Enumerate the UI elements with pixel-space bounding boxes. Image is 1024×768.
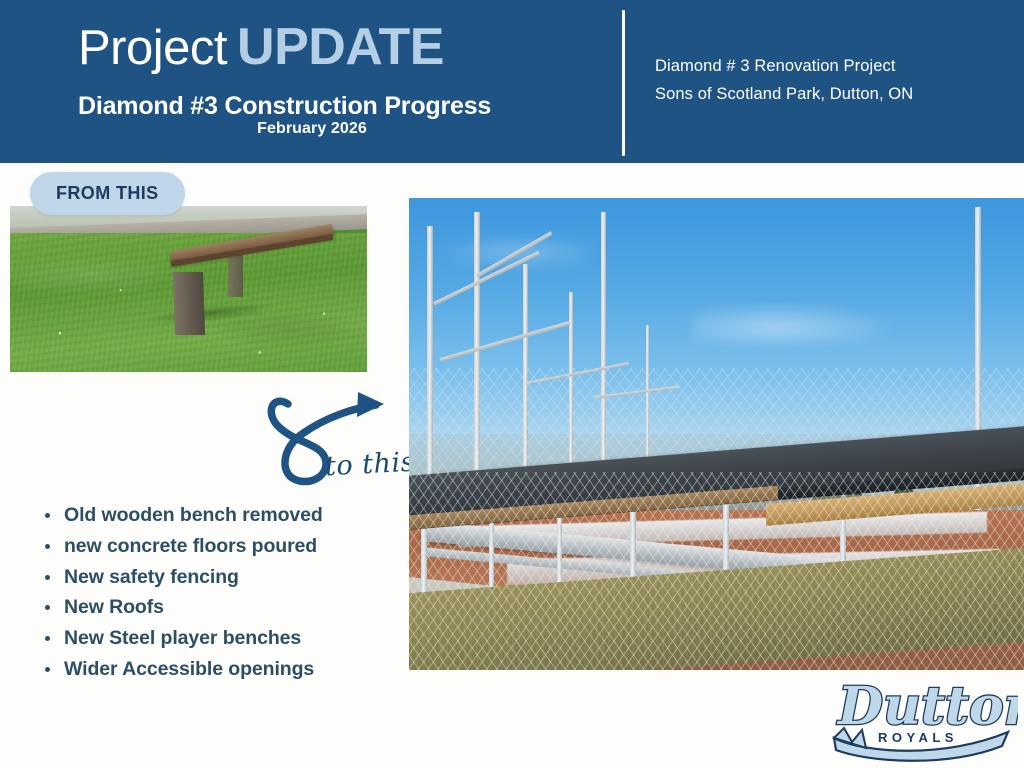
page-subtitle: Diamond #3 Construction Progress [78,92,491,121]
header-left: ProjectUPDATE Diamond #3 Construction Pr… [0,0,615,163]
feature-list: Old wooden bench removed new concrete fl… [38,500,398,685]
page-title-update: UPDATE [237,18,444,76]
page-title: ProjectUPDATE [78,21,444,73]
before-photo-bench-leg-near [173,272,206,335]
after-photo [409,198,1024,670]
after-photo-chainlink-fence [409,472,1024,670]
list-item: Wider Accessible openings [38,654,398,685]
page-title-project: Project [78,21,227,75]
logo-wordmark: Dutton [836,676,1018,737]
header-divider [622,10,625,156]
slide-root: ProjectUPDATE Diamond #3 Construction Pr… [0,0,1024,768]
project-name-line: Diamond # 3 Renovation Project [655,52,1015,80]
project-location-line: Sons of Scotland Park, Dutton, ON [655,80,1015,108]
header-right: Diamond # 3 Renovation Project Sons of S… [655,52,1015,108]
after-photo-cloud [692,302,901,344]
arrow-caption: to this [324,447,415,483]
list-item: Old wooden bench removed [38,500,398,531]
list-item: new concrete floors poured [38,531,398,562]
status-badge-from-this: FROM THIS [30,172,185,215]
list-item: New safety fencing [38,562,398,593]
dutton-royals-logo: ROYALS Dutton [826,672,1018,764]
page-date: February 2026 [78,120,546,138]
header-band: ProjectUPDATE Diamond #3 Construction Pr… [0,0,1024,163]
list-item: New Steel player benches [38,623,398,654]
list-item: New Roofs [38,592,398,623]
before-photo [10,206,367,372]
before-photo-bench-leg-far [228,252,243,297]
